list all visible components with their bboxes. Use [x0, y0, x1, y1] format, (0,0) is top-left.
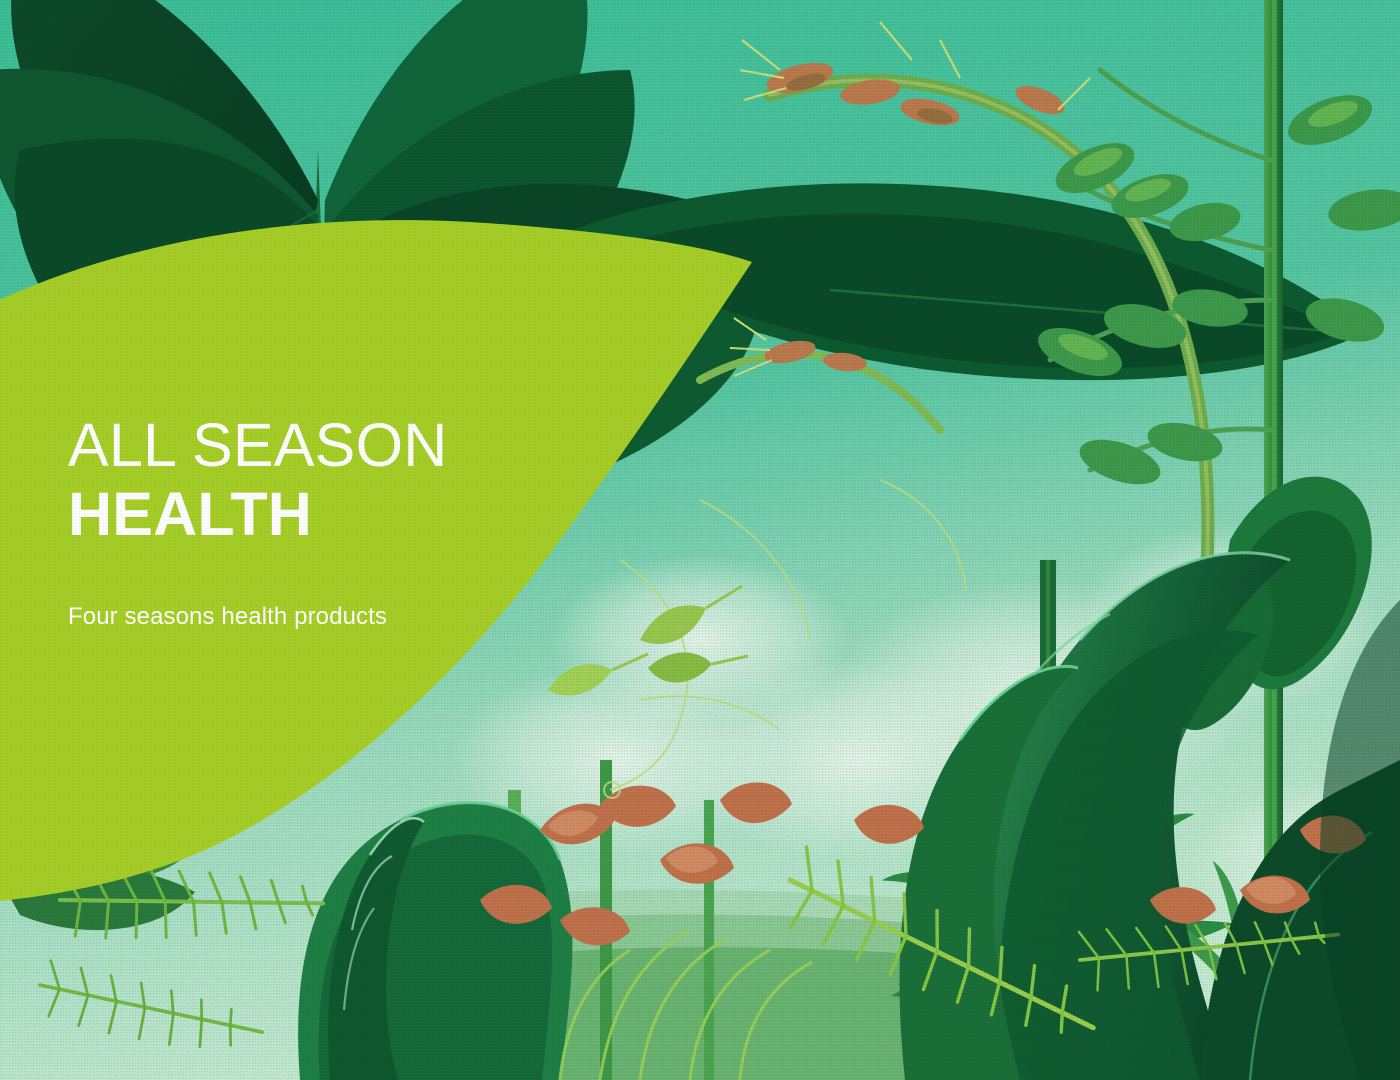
headline-line-2: HEALTH [68, 478, 688, 550]
headline-line-1: ALL SEASON [68, 412, 688, 478]
subheadline: Four seasons health products [68, 602, 688, 632]
hero-text-block: ALL SEASON HEALTH Four seasons health pr… [68, 412, 688, 632]
poster-canvas: ALL SEASON HEALTH Four seasons health pr… [0, 0, 1400, 1080]
